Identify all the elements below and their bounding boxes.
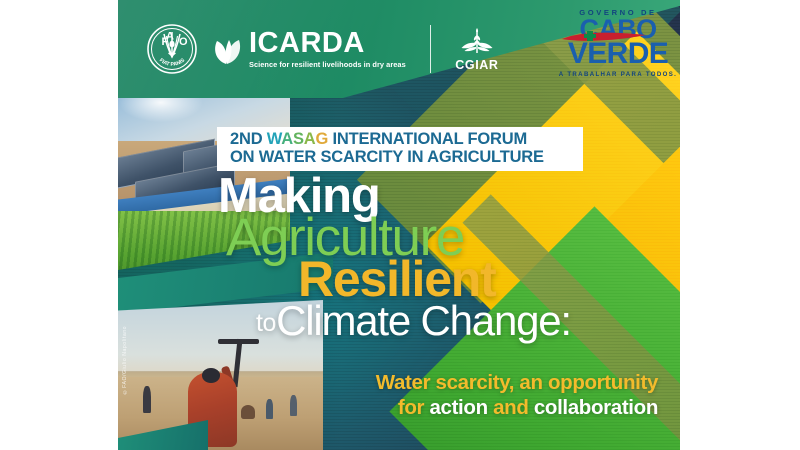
wasag-letter-a: A <box>281 130 293 148</box>
forum-title-suffix: INTERNATIONAL FORUM <box>328 130 527 148</box>
cgiar-wordmark: CGIAR <box>455 58 498 72</box>
forum-title-line-1: 2ND WASAG INTERNATIONAL FORUM <box>230 131 583 149</box>
icarda-text-block: ICARDA Science for resilient livelihoods… <box>249 29 406 68</box>
logo-divider <box>430 25 432 73</box>
cabo-verde-line1: CABO <box>553 18 683 41</box>
cabo-verde-line2: VERDE <box>553 41 683 67</box>
svg-text:O: O <box>179 36 188 48</box>
wasag-letter-s: S <box>293 130 304 148</box>
cgiar-logo: CGIAR <box>455 26 498 72</box>
poster-canvas: ©FAO/Giulio Napolitano F A O FIAT PANIS <box>0 0 800 450</box>
icarda-tagline: Science for resilient livelihoods in dry… <box>249 61 406 68</box>
fao-icon: F A O FIAT PANIS <box>146 23 198 75</box>
subtitle-line-2: for action and collaboration <box>118 395 658 420</box>
cabo-verde-tagline: A TRABALHAR PARA TODOS. <box>553 71 683 78</box>
wasag-letter-a2: A <box>304 130 316 148</box>
svg-text:FIAT PANIS: FIAT PANIS <box>158 57 187 68</box>
svg-text:A: A <box>166 31 174 43</box>
cgiar-wheat-icon <box>460 26 494 56</box>
forum-ordinal: 2ND <box>230 130 267 148</box>
wasag-letter-w: W <box>267 130 281 148</box>
cabo-verde-logo: GOVERNO DE CABO VERDE A TRABALHAR PARA T… <box>553 8 683 78</box>
headline-block: Making Agriculture Resilient toClimate C… <box>118 172 680 341</box>
headline-line-climate: toClimate Change: <box>118 300 680 341</box>
subtitle-word-for: for <box>398 396 430 419</box>
forum-title-band: 2ND WASAG INTERNATIONAL FORUM ON WATER S… <box>217 127 583 171</box>
cabo-verde-line1-text: CABO <box>579 14 656 44</box>
subtitle-word-and: and <box>488 396 534 419</box>
wasag-letter-g: G <box>316 130 329 148</box>
headline-to-word: to <box>256 309 276 337</box>
subtitle-line-1: Water scarcity, an opportunity <box>118 370 658 395</box>
headline-climate-words: Climate Change: <box>276 297 571 344</box>
leaf-icon <box>212 35 242 65</box>
subtitle-word-action: action <box>429 396 487 419</box>
icarda-logo: ICARDA Science for resilient livelihoods… <box>212 29 406 68</box>
icarda-wordmark: ICARDA <box>249 29 406 58</box>
subtitle-block: Water scarcity, an opportunity for actio… <box>118 370 680 421</box>
forum-title-line-2: ON WATER SCARCITY IN AGRICULTURE <box>230 149 583 167</box>
subtitle-word-collaboration: collaboration <box>534 396 658 419</box>
